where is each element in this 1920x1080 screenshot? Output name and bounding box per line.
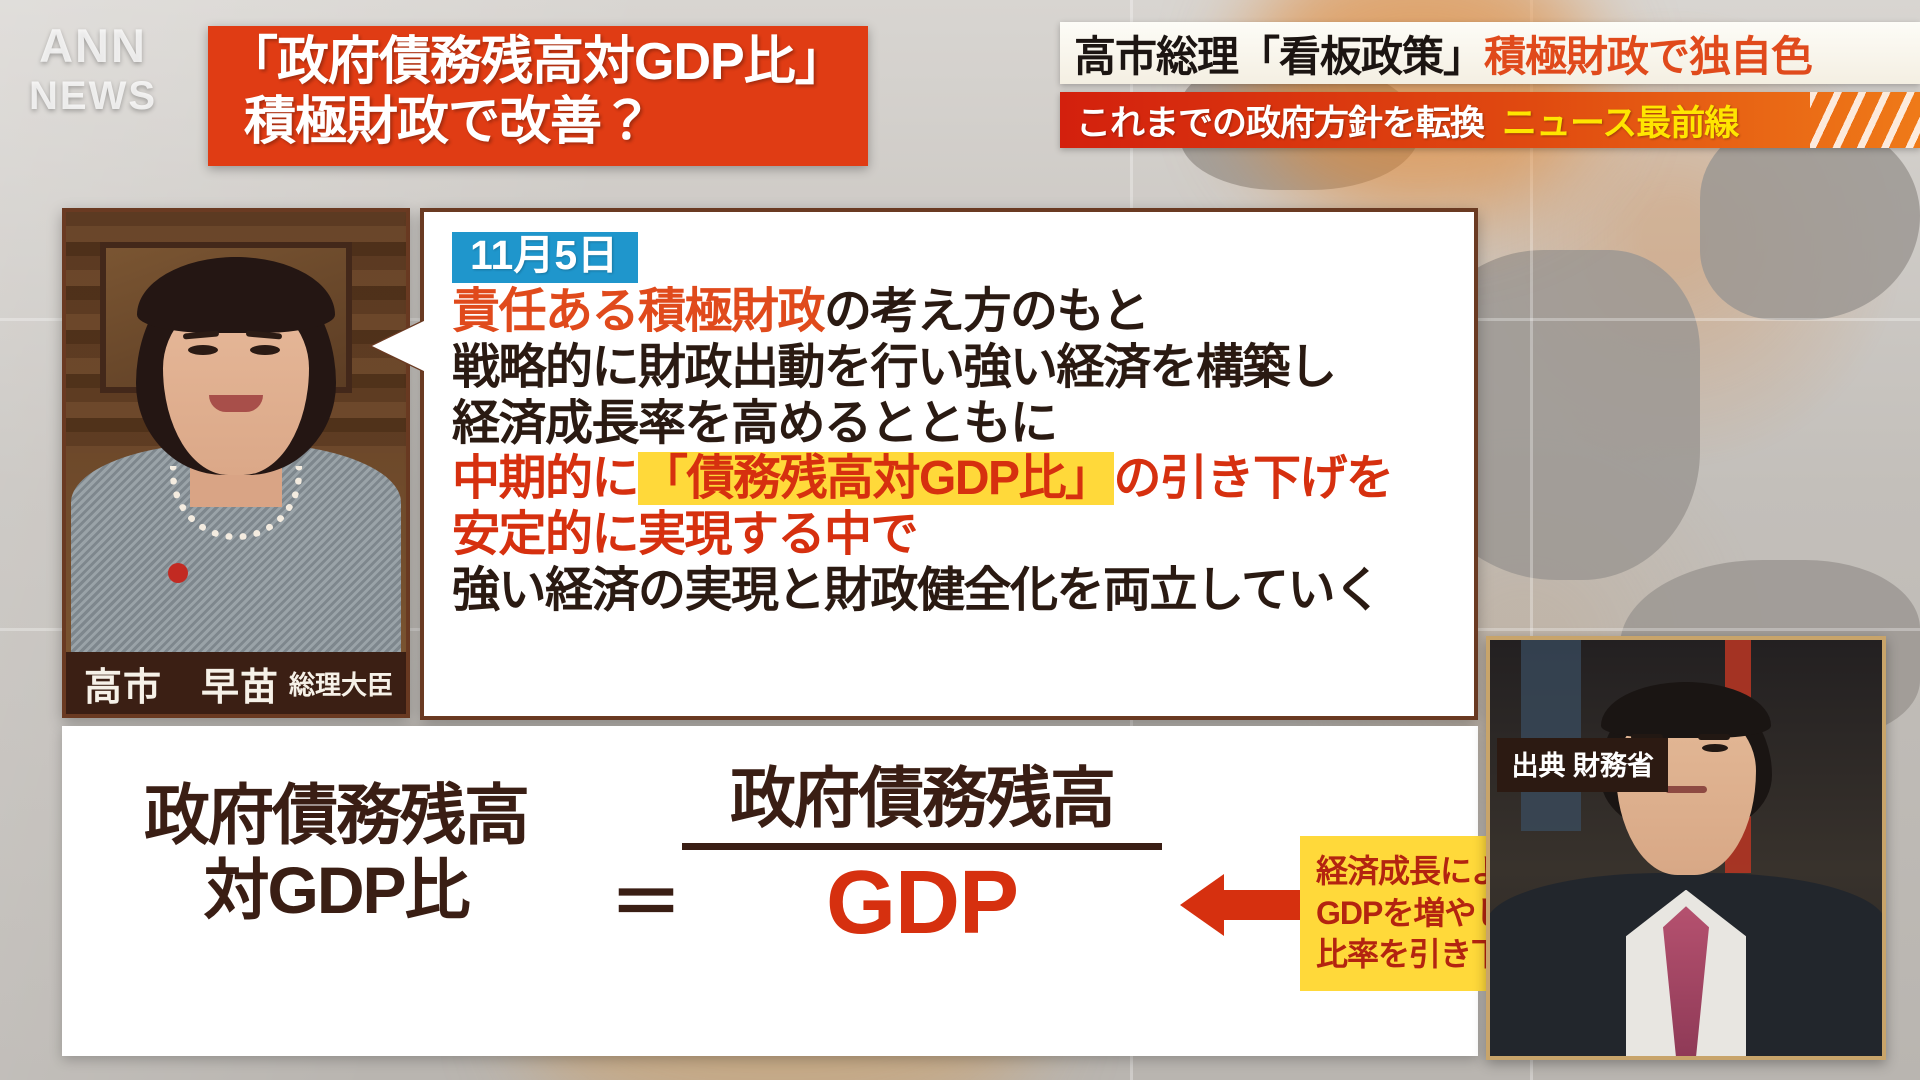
quote-segment: 中期的に: [452, 452, 638, 505]
formula-left-line-2: 対GDP比: [86, 853, 586, 928]
formula-denominator: GDP: [682, 854, 1162, 953]
ann-news-logo: ANN NEWS: [8, 10, 178, 128]
quote-lines: 責任ある積極財政の考え方のもと 戦略的に財政出動を行い強い経済を構築し 経済成長…: [452, 285, 1458, 618]
quote-line: 中期的に「債務残高対GDP比」の引き下げを: [452, 452, 1458, 506]
quote-line: 強い経済の実現と財政健全化を両立していく: [452, 564, 1458, 618]
main-headline-banner: 「政府債務残高対GDP比」 積極財政で改善？: [208, 26, 868, 166]
speaker-eye-right: [250, 345, 280, 355]
quote-panel: 11月5日 責任ある積極財政の考え方のもと 戦略的に財政出動を行い強い経済を構築…: [420, 208, 1478, 720]
topic-banner-secondary: これまでの政府方針を転換ニュース最前線: [1060, 92, 1920, 148]
quote-segment: 戦略的に財政出動を行い強い経済を構築し: [452, 341, 1336, 394]
anchor-eyebrow-right: [1698, 734, 1730, 740]
anchor-eye-right: [1702, 744, 1728, 752]
quote-highlighted-term: 「債務残高対GDP比」: [638, 452, 1114, 505]
subtopic-banner-text: これまでの政府方針を転換ニュース最前線: [1076, 95, 1738, 146]
quote-segment: 安定的に実現する中で: [452, 508, 917, 561]
headline-line-1: 「政府債務残高対GDP比」: [226, 33, 854, 93]
topic-banner-primary: 高市総理「看板政策」積極財政で独自色: [1060, 22, 1920, 84]
callout-arrow-icon: [1180, 874, 1302, 936]
program-name: ニュース最前線: [1502, 104, 1738, 143]
quote-line: 戦略的に財政出動を行い強い経済を構築し: [452, 341, 1458, 395]
arrow-head: [1180, 874, 1224, 936]
quote-segment: の引き下げを: [1114, 452, 1393, 505]
quote-segment: 経済成長率を高めるとともに: [452, 397, 1057, 450]
anchor-video-inset: [1486, 636, 1886, 1060]
quote-line: 経済成長率を高めるとともに: [452, 397, 1458, 451]
speaker-mouth: [209, 395, 263, 412]
formula-numerator: 政府債務残高: [682, 762, 1162, 835]
quote-segment: の考え方のもと: [824, 285, 1149, 338]
formula-equals-sign: ＝: [610, 844, 682, 949]
quote-date-badge: 11月5日: [452, 232, 638, 283]
subtopic-text: これまでの政府方針を転換: [1076, 104, 1484, 143]
quote-segment: 強い経済の実現と財政健全化を両立していく: [452, 564, 1381, 617]
arrow-shaft: [1224, 890, 1302, 920]
anchor-mouth: [1665, 786, 1707, 793]
headline-line-2: 積極財政で改善？: [226, 93, 854, 153]
banner-stripes-decoration: [1810, 92, 1920, 148]
formula-left-term: 政府債務残高 対GDP比: [86, 778, 586, 928]
speaker-photo: 高市 早苗 総理大臣: [62, 208, 410, 718]
quote-line: 責任ある積極財政の考え方のもと: [452, 285, 1458, 339]
source-label: 出典 財務省: [1497, 738, 1668, 792]
logo-line-2: NEWS: [29, 76, 157, 116]
speaker-name: 高市 早苗: [84, 656, 279, 711]
quote-segment: 責任ある積極財政: [452, 285, 824, 338]
formula-fraction: 政府債務残高 GDP: [682, 762, 1162, 953]
quote-line: 安定的に実現する中で: [452, 508, 1458, 562]
formula-left-line-1: 政府債務残高: [86, 778, 586, 853]
speaker-name-caption: 高市 早苗 総理大臣: [66, 652, 406, 714]
topic-banner-text: 高市総理「看板政策」積極財政で独自色: [1074, 23, 1812, 84]
speech-bubble-tail: [372, 320, 426, 372]
formula-panel: 政府債務残高 対GDP比 ＝ 政府債務残高 GDP 経済成長によって GDPを増…: [62, 726, 1478, 1056]
topic-text-black: 高市総理「看板政策」: [1074, 33, 1484, 80]
anchor-backdrop-blue-strip: [1521, 640, 1581, 831]
speaker-title: 総理大臣: [289, 665, 393, 702]
broadcast-screen: ANN NEWS 「政府債務残高対GDP比」 積極財政で改善？ 高市総理「看板政…: [0, 0, 1920, 1080]
formula-fraction-bar: [682, 843, 1162, 850]
logo-line-1: ANN: [39, 22, 147, 69]
topic-text-accent: 積極財政で独自色: [1484, 33, 1812, 80]
